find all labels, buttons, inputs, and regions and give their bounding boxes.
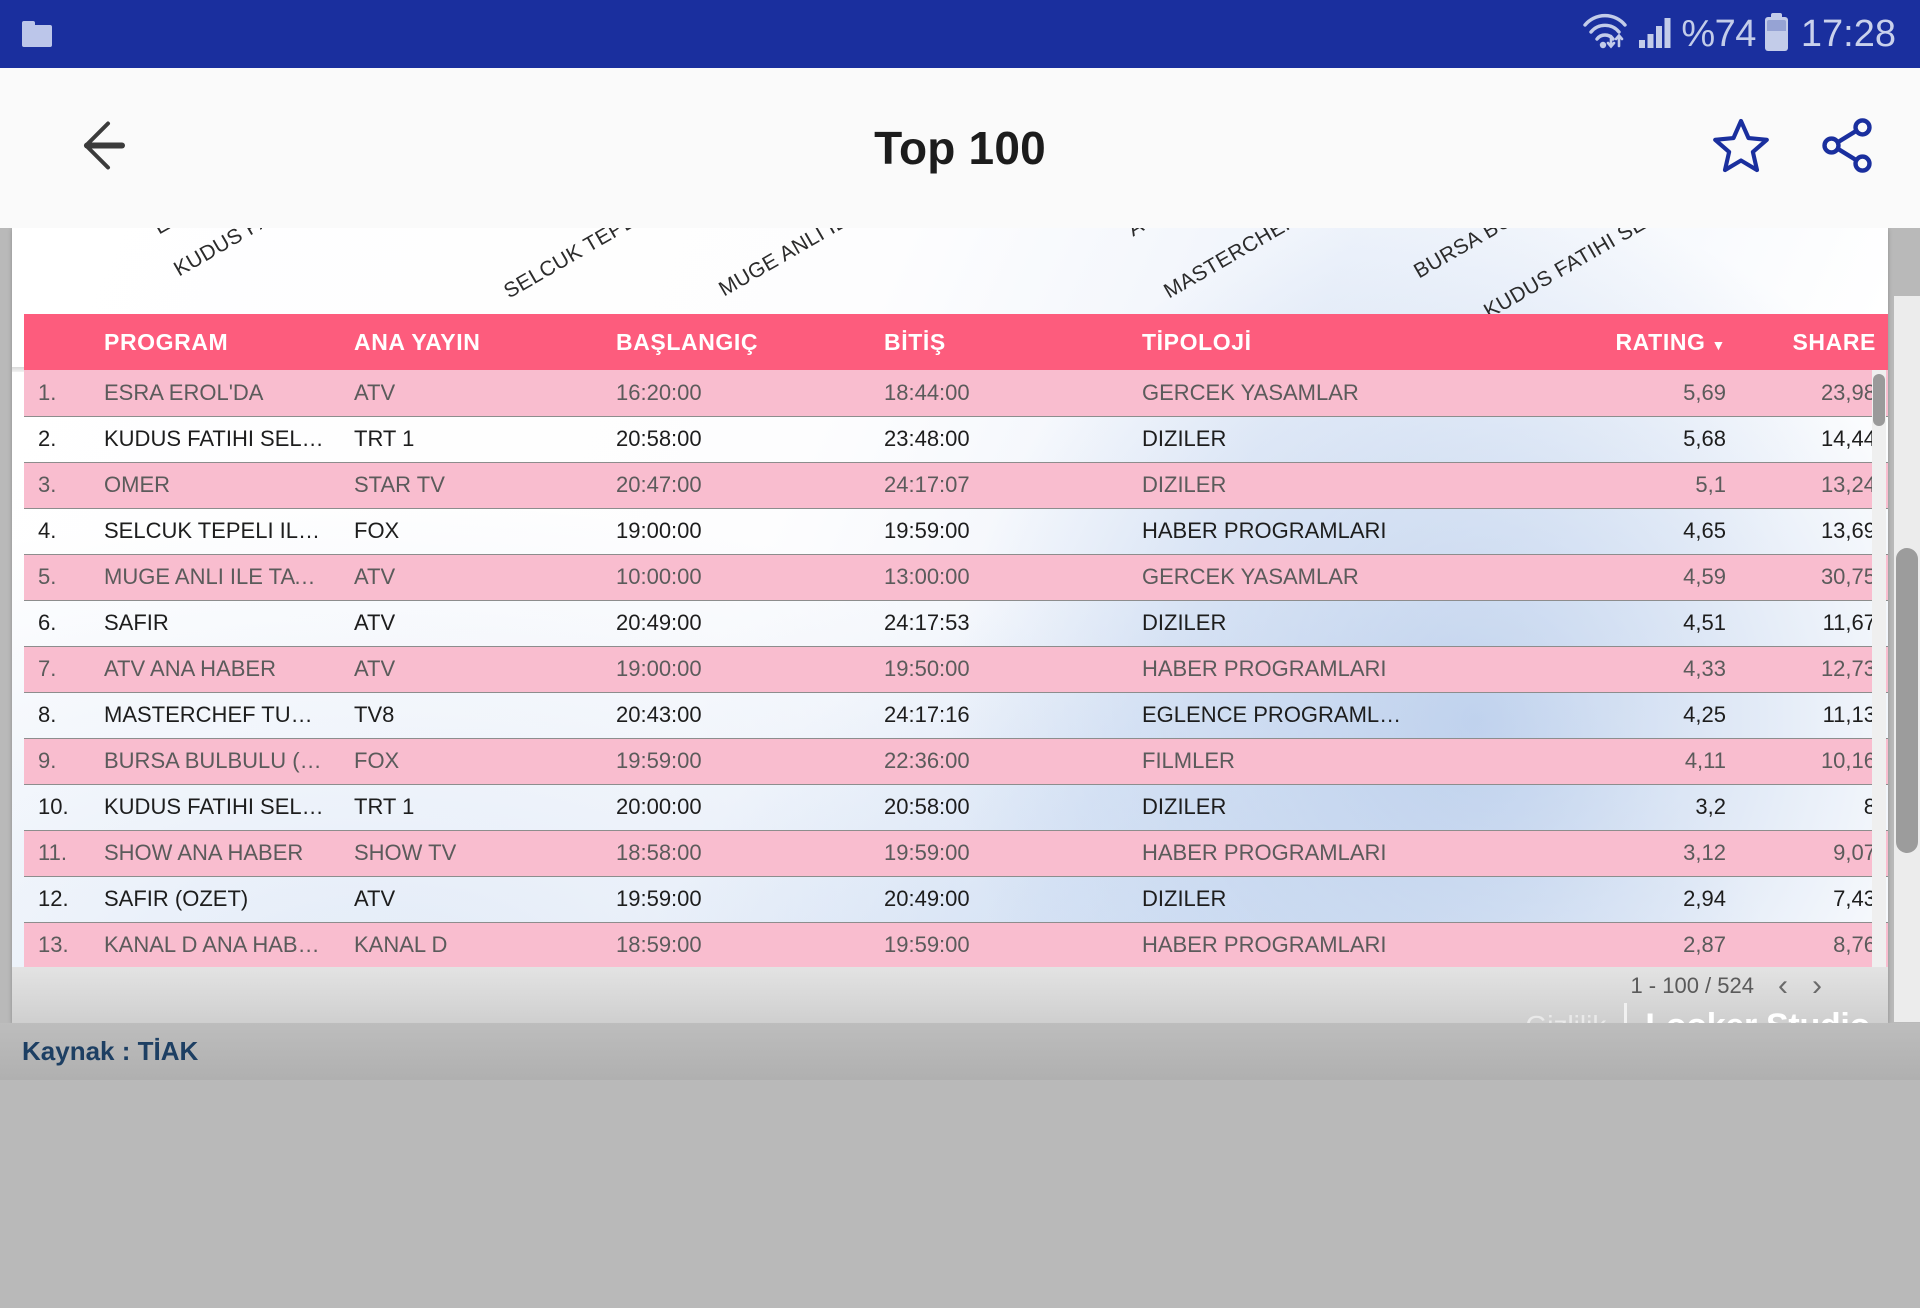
cell-tipoloji: HABER PROGRAMLARI xyxy=(1128,922,1510,968)
cell-program: SHOW ANA HABER xyxy=(90,830,340,876)
table-row[interactable]: 1.ESRA EROL'DAATV16:20:0018:44:00GERCEK … xyxy=(24,370,1888,416)
cell-baslangic: 19:59:00 xyxy=(602,876,870,922)
page-scrollbar-thumb[interactable] xyxy=(1896,548,1918,853)
column-header-rating-label: RATING xyxy=(1615,329,1705,355)
chart-category-label: MASTERCHEF TURKIYE AL... xyxy=(1160,228,1431,304)
star-icon[interactable] xyxy=(1710,115,1772,182)
cell-rank: 7. xyxy=(24,646,90,692)
cell-rank: 5. xyxy=(24,554,90,600)
table-row[interactable]: 2.KUDUS FATIHI SELAH…TRT 120:58:0023:48:… xyxy=(24,416,1888,462)
folder-icon xyxy=(22,21,52,47)
header-actions xyxy=(1710,115,1878,182)
cell-ana_yayin: SHOW TV xyxy=(340,830,602,876)
table-row[interactable]: 11.SHOW ANA HABERSHOW TV18:58:0019:59:00… xyxy=(24,830,1888,876)
cell-ana_yayin: FOX xyxy=(340,738,602,784)
cell-bitis: 19:59:00 xyxy=(870,922,1128,968)
cell-share: 7,43 xyxy=(1740,876,1888,922)
pagination-controls: 1 - 100 / 524 ‹ › xyxy=(1630,971,1822,1001)
cell-rating: 4,11 xyxy=(1510,738,1740,784)
table-scrollbar-track[interactable] xyxy=(1872,370,1886,1019)
report-canvas: ESRA ERO... KUDUS FATIHI SELAHADD... SEL… xyxy=(0,228,1920,1308)
cell-share: 10,16 xyxy=(1740,738,1888,784)
cell-program: OMER xyxy=(90,462,340,508)
cell-share: 11,67 xyxy=(1740,600,1888,646)
column-header-share[interactable]: SHARE xyxy=(1740,314,1888,370)
cell-share: 13,24 xyxy=(1740,462,1888,508)
cell-rating: 5,69 xyxy=(1510,370,1740,416)
cell-program: SAFIR xyxy=(90,600,340,646)
cell-baslangic: 20:00:00 xyxy=(602,784,870,830)
cell-rating: 2,87 xyxy=(1510,922,1740,968)
cell-rank: 6. xyxy=(24,600,90,646)
app-header: Top 100 xyxy=(0,68,1920,228)
cell-rank: 12. xyxy=(24,876,90,922)
page-bottom-band xyxy=(0,1023,1920,1080)
column-header-ana-yayin[interactable]: ANA YAYIN xyxy=(340,314,602,370)
battery-icon xyxy=(1765,17,1788,51)
cell-share: 14,44 xyxy=(1740,416,1888,462)
cell-program: ESRA EROL'DA xyxy=(90,370,340,416)
cell-ana_yayin: ATV xyxy=(340,876,602,922)
cell-tipoloji: EGLENCE PROGRAML… xyxy=(1128,692,1510,738)
top100-table-container[interactable]: PROGRAM ANA YAYIN BAŞLANGIÇ BİTİŞ TİPOLO… xyxy=(24,314,1888,1019)
chart-category-label: ATV ANA H... xyxy=(1124,228,1248,242)
cell-tipoloji: DIZILER xyxy=(1128,600,1510,646)
share-icon[interactable] xyxy=(1816,115,1878,182)
cell-program: MASTERCHEF TURKIY… xyxy=(90,692,340,738)
chevron-right-icon[interactable]: › xyxy=(1812,971,1822,1001)
cell-tipoloji: GERCEK YASAMLAR xyxy=(1128,370,1510,416)
cell-rank: 13. xyxy=(24,922,90,968)
cell-program: SELCUK TEPELI ILE FO… xyxy=(90,508,340,554)
cell-baslangic: 18:58:00 xyxy=(602,830,870,876)
cell-share: 8,76 xyxy=(1740,922,1888,968)
table-row[interactable]: 10.KUDUS FATIHI SELAH…TRT 120:00:0020:58… xyxy=(24,784,1888,830)
cell-rating: 5,68 xyxy=(1510,416,1740,462)
cell-ana_yayin: KANAL D xyxy=(340,922,602,968)
cell-bitis: 20:58:00 xyxy=(870,784,1128,830)
table-row[interactable]: 5.MUGE ANLI ILE TATLI S…ATV10:00:0013:00… xyxy=(24,554,1888,600)
cell-rank: 11. xyxy=(24,830,90,876)
back-button[interactable] xyxy=(80,116,152,181)
wifi-icon xyxy=(1581,12,1629,57)
cell-baslangic: 20:49:00 xyxy=(602,600,870,646)
table-row[interactable]: 13.KANAL D ANA HABERKANAL D18:59:0019:59… xyxy=(24,922,1888,968)
sort-descending-icon[interactable]: ▼ xyxy=(1712,337,1726,353)
table-row[interactable]: 3.OMERSTAR TV20:47:0024:17:07DIZILER5,11… xyxy=(24,462,1888,508)
status-bar-clock: 17:28 xyxy=(1801,13,1896,56)
cell-rating: 5,1 xyxy=(1510,462,1740,508)
status-bar-left xyxy=(22,21,52,47)
cell-share: 13,69 xyxy=(1740,508,1888,554)
cell-bitis: 19:59:00 xyxy=(870,508,1128,554)
cell-ana_yayin: TRT 1 xyxy=(340,416,602,462)
cell-bitis: 18:44:00 xyxy=(870,370,1128,416)
battery-percent-label: %74 xyxy=(1681,13,1756,56)
chart-category-label: KUDUS FATIHI SELAHADD... xyxy=(1480,228,1743,324)
column-header-rating[interactable]: RATING▼ xyxy=(1510,314,1740,370)
cell-tipoloji: DIZILER xyxy=(1128,876,1510,922)
cell-rating: 3,2 xyxy=(1510,784,1740,830)
cell-share: 23,98 xyxy=(1740,370,1888,416)
cell-baslangic: 20:43:00 xyxy=(602,692,870,738)
cell-program: MUGE ANLI ILE TATLI S… xyxy=(90,554,340,600)
table-header-row: PROGRAM ANA YAYIN BAŞLANGIÇ BİTİŞ TİPOLO… xyxy=(24,314,1888,370)
cell-program: SAFIR (OZET) xyxy=(90,876,340,922)
column-header-rank[interactable] xyxy=(24,314,90,370)
cell-rank: 8. xyxy=(24,692,90,738)
cell-bitis: 23:48:00 xyxy=(870,416,1128,462)
cellular-signal-icon xyxy=(1638,15,1672,54)
cell-bitis: 19:59:00 xyxy=(870,830,1128,876)
cell-rating: 4,51 xyxy=(1510,600,1740,646)
cell-bitis: 24:17:53 xyxy=(870,600,1128,646)
cell-rank: 4. xyxy=(24,508,90,554)
cell-rating: 2,94 xyxy=(1510,876,1740,922)
table-row[interactable]: 7.ATV ANA HABERATV19:00:0019:50:00HABER … xyxy=(24,646,1888,692)
cell-rating: 4,33 xyxy=(1510,646,1740,692)
cell-tipoloji: FILMLER xyxy=(1128,738,1510,784)
chevron-left-icon[interactable]: ‹ xyxy=(1778,971,1788,1001)
cell-bitis: 20:49:00 xyxy=(870,876,1128,922)
cell-tipoloji: DIZILER xyxy=(1128,784,1510,830)
cell-program: KUDUS FATIHI SELAH… xyxy=(90,416,340,462)
cell-ana_yayin: ATV xyxy=(340,600,602,646)
cell-ana_yayin: STAR TV xyxy=(340,462,602,508)
table-row[interactable]: 8.MASTERCHEF TURKIY…TV820:43:0024:17:16E… xyxy=(24,692,1888,738)
cell-program: ATV ANA HABER xyxy=(90,646,340,692)
table-row[interactable]: 9.BURSA BULBULU (T.S)FOX19:59:0022:36:00… xyxy=(24,738,1888,784)
cell-bitis: 13:00:00 xyxy=(870,554,1128,600)
table-row[interactable]: 6.SAFIRATV20:49:0024:17:53DIZILER4,5111,… xyxy=(24,600,1888,646)
cell-program: BURSA BULBULU (T.S) xyxy=(90,738,340,784)
cell-baslangic: 20:47:00 xyxy=(602,462,870,508)
cell-baslangic: 10:00:00 xyxy=(602,554,870,600)
cell-program: KANAL D ANA HABER xyxy=(90,922,340,968)
table-scrollbar-thumb[interactable] xyxy=(1873,374,1885,426)
table-body: 1.ESRA EROL'DAATV16:20:0018:44:00GERCEK … xyxy=(24,370,1888,968)
chart-category-label: MUGE ANLI ILE TATLI... xyxy=(715,228,933,302)
cell-tipoloji: HABER PROGRAMLARI xyxy=(1128,646,1510,692)
cell-rank: 9. xyxy=(24,738,90,784)
report-footer: 1 - 100 / 524 ‹ › Gizlilik Looker Studio xyxy=(12,967,1888,1023)
cell-ana_yayin: TV8 xyxy=(340,692,602,738)
cell-share: 11,13 xyxy=(1740,692,1888,738)
column-header-bitis[interactable]: BİTİŞ xyxy=(870,314,1128,370)
source-label: Kaynak : TİAK xyxy=(22,1036,198,1067)
cell-baslangic: 19:00:00 xyxy=(602,508,870,554)
cell-ana_yayin: ATV xyxy=(340,554,602,600)
cell-ana_yayin: FOX xyxy=(340,508,602,554)
cell-ana_yayin: ATV xyxy=(340,370,602,416)
report-page: ESRA ERO... KUDUS FATIHI SELAHADD... SEL… xyxy=(12,228,1888,1023)
cell-ana_yayin: TRT 1 xyxy=(340,784,602,830)
cell-baslangic: 19:59:00 xyxy=(602,738,870,784)
pagination-range-label: 1 - 100 / 524 xyxy=(1630,973,1754,999)
cell-rank: 2. xyxy=(24,416,90,462)
chart-category-label: KUDUS FATIHI SELAHADD... xyxy=(170,228,433,282)
cell-share: 9,07 xyxy=(1740,830,1888,876)
cell-rank: 3. xyxy=(24,462,90,508)
cell-bitis: 19:50:00 xyxy=(870,646,1128,692)
cell-share: 30,75 xyxy=(1740,554,1888,600)
cell-tipoloji: HABER PROGRAMLARI xyxy=(1128,508,1510,554)
cell-rank: 10. xyxy=(24,784,90,830)
cell-ana_yayin: ATV xyxy=(340,646,602,692)
status-bar: %74 17:28 xyxy=(0,0,1920,68)
cell-tipoloji: HABER PROGRAMLARI xyxy=(1128,830,1510,876)
table-row[interactable]: 4.SELCUK TEPELI ILE FO…FOX19:00:0019:59:… xyxy=(24,508,1888,554)
status-bar-right: %74 17:28 xyxy=(1581,12,1896,57)
cell-tipoloji: DIZILER xyxy=(1128,462,1510,508)
cell-baslangic: 16:20:00 xyxy=(602,370,870,416)
cell-baslangic: 19:00:00 xyxy=(602,646,870,692)
cell-rating: 3,12 xyxy=(1510,830,1740,876)
top100-table: PROGRAM ANA YAYIN BAŞLANGIÇ BİTİŞ TİPOLO… xyxy=(24,314,1888,969)
cell-bitis: 24:17:16 xyxy=(870,692,1128,738)
cell-program: KUDUS FATIHI SELAH… xyxy=(90,784,340,830)
column-header-program[interactable]: PROGRAM xyxy=(90,314,340,370)
cell-share: 12,73 xyxy=(1740,646,1888,692)
cell-rating: 4,65 xyxy=(1510,508,1740,554)
cell-bitis: 24:17:07 xyxy=(870,462,1128,508)
cell-baslangic: 18:59:00 xyxy=(602,922,870,968)
column-header-baslangic[interactable]: BAŞLANGIÇ xyxy=(602,314,870,370)
cell-tipoloji: GERCEK YASAMLAR xyxy=(1128,554,1510,600)
page-title: Top 100 xyxy=(0,121,1920,175)
cell-rating: 4,25 xyxy=(1510,692,1740,738)
cell-rank: 1. xyxy=(24,370,90,416)
table-row[interactable]: 12.SAFIR (OZET)ATV19:59:0020:49:00DIZILE… xyxy=(24,876,1888,922)
cell-tipoloji: DIZILER xyxy=(1128,416,1510,462)
cell-baslangic: 20:58:00 xyxy=(602,416,870,462)
column-header-tipoloji[interactable]: TİPOLOJİ xyxy=(1128,314,1510,370)
cell-share: 8 xyxy=(1740,784,1888,830)
cell-rating: 4,59 xyxy=(1510,554,1740,600)
cell-bitis: 22:36:00 xyxy=(870,738,1128,784)
